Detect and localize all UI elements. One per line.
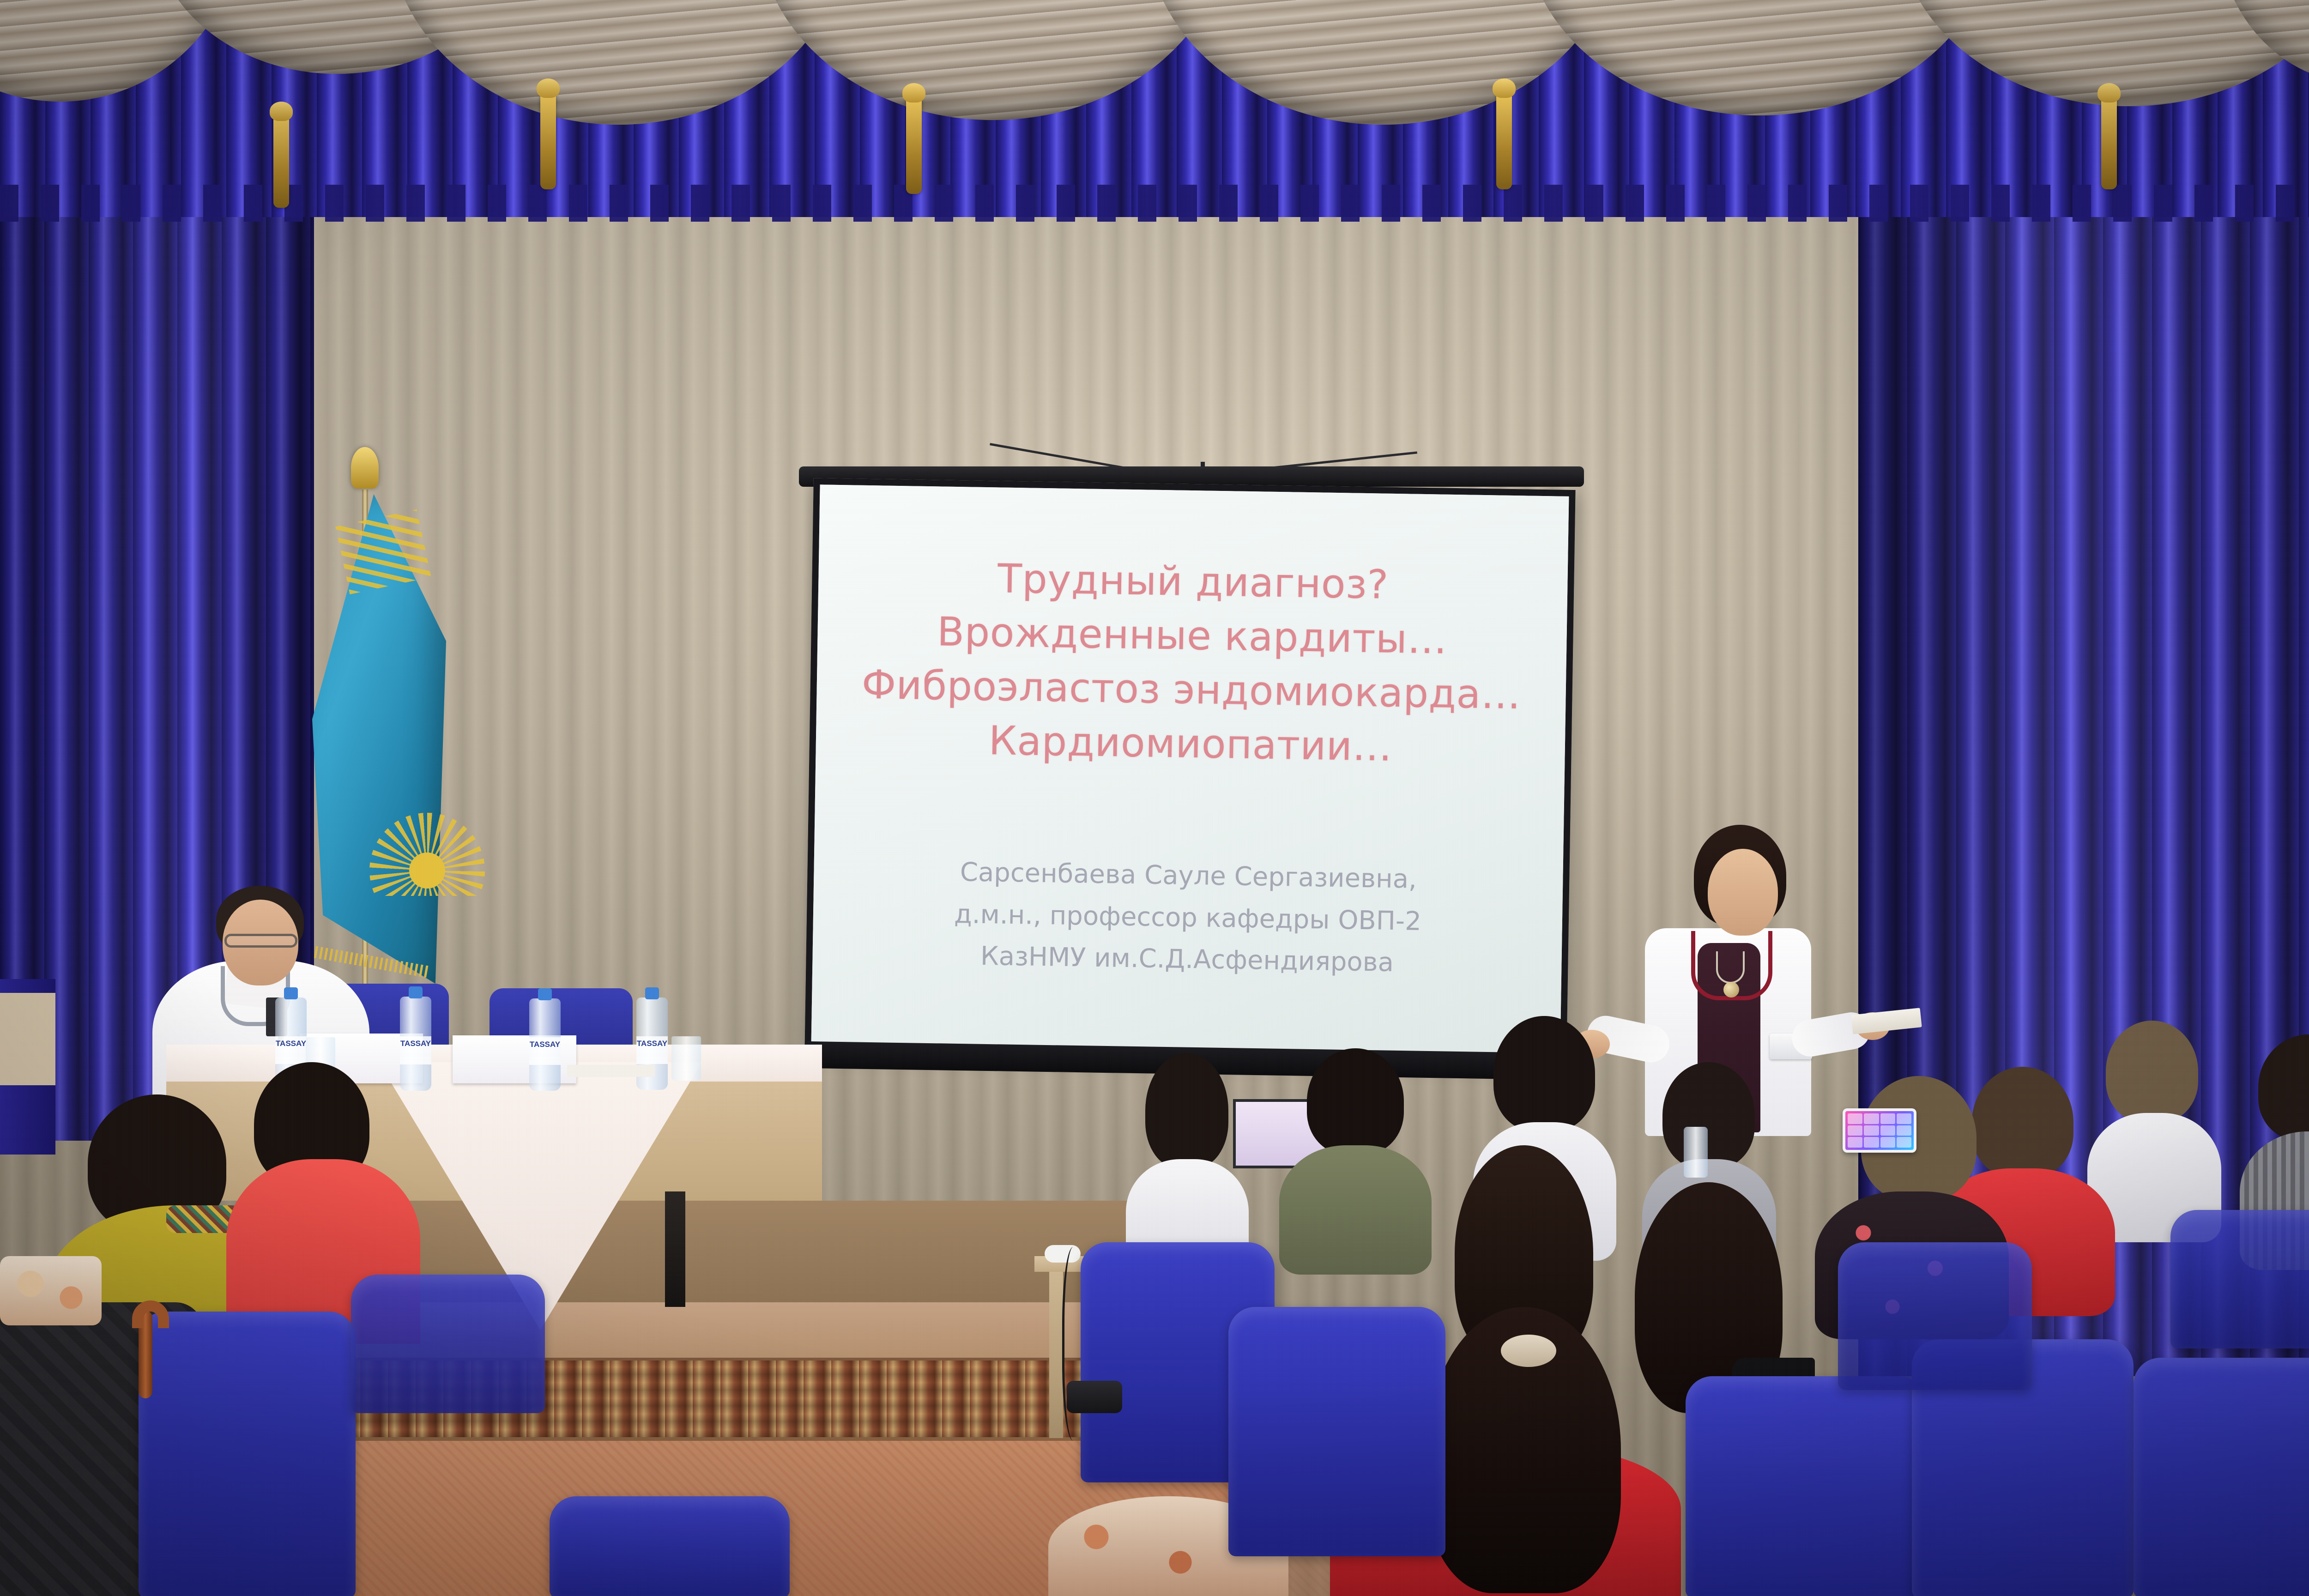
phone-app-icon[interactable] (1880, 1125, 1895, 1136)
audience-hair (1145, 1053, 1228, 1168)
auditorium-seat[interactable] (1686, 1376, 1926, 1596)
slide-title-block: Трудный диагноз? Врожденные кардиты… Фиб… (816, 549, 1568, 777)
audience-member (1118, 1053, 1256, 1247)
bottle-label: TASSAY (636, 1036, 668, 1064)
phone-app-icon[interactable] (1897, 1125, 1911, 1136)
audience-hair (1493, 1016, 1595, 1131)
seat-armrest (1067, 1381, 1122, 1413)
presenter-pendant (1723, 982, 1739, 997)
audience-hair (2106, 1021, 2198, 1122)
slide-subtitle-block: Сарсенбаева Сауле Сергазиевна, д.м.н., п… (812, 849, 1563, 987)
auditorium-seat[interactable] (2134, 1358, 2309, 1596)
phone-app-icon[interactable] (1897, 1137, 1911, 1148)
flag-finial (351, 447, 379, 489)
presenter-head (1708, 849, 1778, 936)
smartphone[interactable] (1843, 1108, 1916, 1153)
auditorium-seat[interactable] (2170, 1210, 2309, 1348)
presidium-table-leg (665, 1191, 685, 1307)
audience-hair (1307, 1048, 1404, 1155)
phone-app-icon[interactable] (1864, 1137, 1879, 1148)
audience-member (1279, 1048, 1432, 1261)
seated-doctor-glasses (224, 934, 297, 948)
projection-screen: Трудный диагноз? Врожденные кардиты… Фиб… (804, 478, 1575, 1063)
phone-app-icon[interactable] (1848, 1137, 1862, 1148)
presenter-necklace (1716, 951, 1745, 984)
audience-water-bottle (1684, 1127, 1708, 1178)
bottle-cap (645, 987, 659, 999)
auditorium-seat[interactable] (1838, 1242, 2032, 1390)
phone-app-icon[interactable] (1848, 1125, 1862, 1136)
audience-hair (1662, 1062, 1755, 1168)
bottle-cap (538, 988, 552, 1000)
auditorium-seat[interactable] (550, 1496, 790, 1596)
phone-app-icon[interactable] (1880, 1137, 1895, 1148)
gold-tassel (1496, 92, 1512, 189)
auditorium-seat[interactable] (1228, 1307, 1445, 1556)
audience-body (1279, 1145, 1432, 1275)
phone-app-icon[interactable] (1864, 1113, 1879, 1124)
gold-tassel (2101, 97, 2117, 189)
gold-tassel (273, 115, 289, 208)
bottle-label: TASSAY (529, 1037, 561, 1065)
auditorium-seat[interactable] (139, 1312, 356, 1596)
drinking-glass (671, 1036, 701, 1081)
water-bottle: TASSAY (529, 998, 561, 1091)
gold-tassel (906, 97, 922, 194)
bottle-label: TASSAY (275, 1036, 307, 1064)
conference-photo-scene: Трудный диагноз? Врожденные кардиты… Фиб… (0, 0, 2309, 1596)
bottle-cap (409, 986, 423, 998)
audience-floral-bag (0, 1256, 102, 1325)
phone-screen[interactable] (1845, 1111, 1914, 1150)
gold-tassel (540, 92, 556, 189)
phone-app-icon[interactable] (1880, 1113, 1895, 1124)
bottle-label: TASSAY (400, 1036, 431, 1064)
audience-hair-tie (1501, 1335, 1556, 1367)
bottle-cap (284, 987, 298, 999)
phone-app-icon[interactable] (1864, 1125, 1879, 1136)
pelmet-scallop-edge (0, 185, 2309, 222)
audience-hair (2258, 1034, 2309, 1141)
auditorium-seat[interactable] (351, 1275, 545, 1413)
wall-panel-left (0, 993, 55, 1085)
presidium-papers (567, 1065, 655, 1077)
phone-app-icon[interactable] (1848, 1113, 1862, 1124)
av-table-leg (1049, 1272, 1063, 1438)
phone-app-icon[interactable] (1897, 1113, 1911, 1124)
